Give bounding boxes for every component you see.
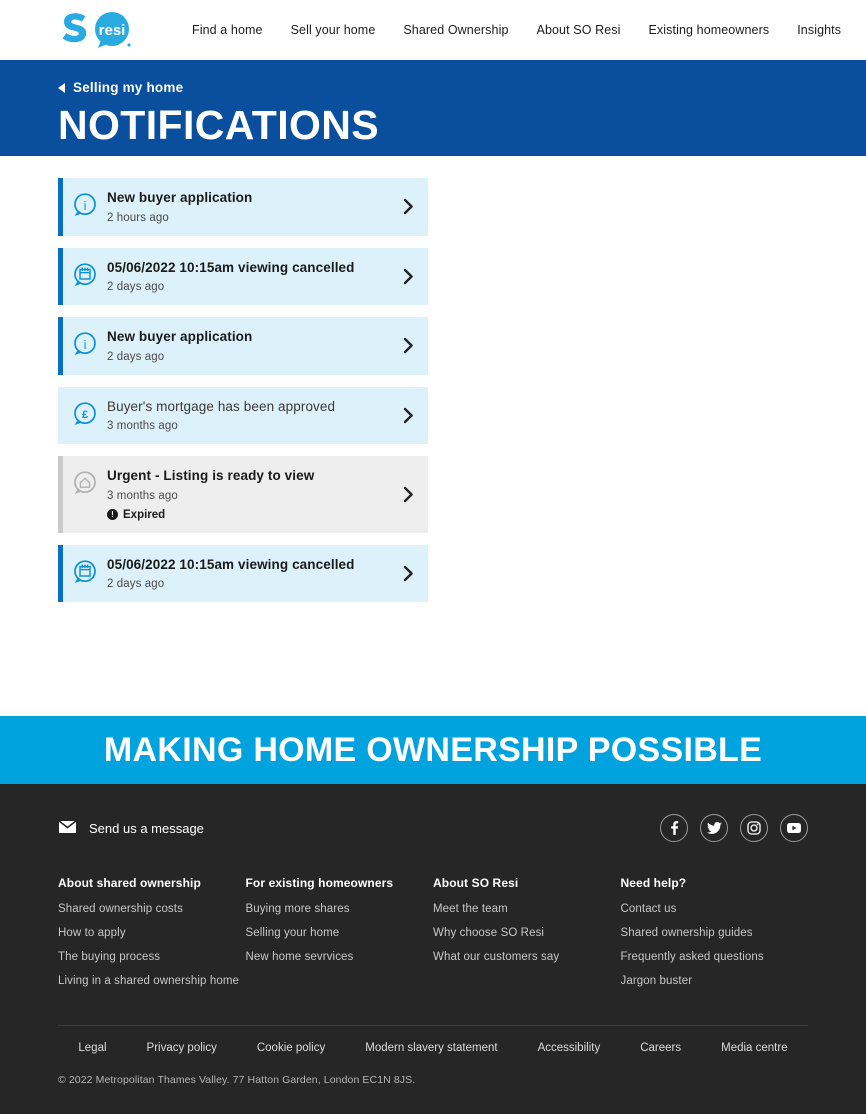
pound-bubble-icon: £: [63, 387, 107, 445]
notification-body: 05/06/2022 10:15am viewing cancelled2 da…: [107, 545, 388, 603]
social-links: [660, 814, 808, 842]
nav-item-shared-ownership[interactable]: Shared Ownership: [389, 23, 522, 37]
send-message-label: Send us a message: [89, 821, 204, 836]
notification-body: New buyer application2 days ago: [107, 317, 388, 375]
notification-title: New buyer application: [107, 189, 384, 207]
footer-link[interactable]: Living in a shared ownership home: [58, 975, 246, 987]
footer-link[interactable]: Selling your home: [246, 927, 434, 939]
twitter-icon[interactable]: [700, 814, 728, 842]
breadcrumb-label: Selling my home: [73, 80, 183, 95]
notification-timestamp: 2 days ago: [107, 351, 384, 363]
notification-body: 05/06/2022 10:15am viewing cancelled2 da…: [107, 248, 388, 306]
legal-links: LegalPrivacy policyCookie policyModern s…: [58, 1042, 808, 1074]
footer-legal-section: LegalPrivacy policyCookie policyModern s…: [58, 1025, 808, 1096]
footer-column: About SO ResiMeet the teamWhy choose SO …: [433, 876, 621, 999]
notification-title: 05/06/2022 10:15am viewing cancelled: [107, 556, 384, 574]
footer-top-row: Send us a message: [58, 814, 808, 876]
footer-link[interactable]: Contact us: [621, 903, 809, 915]
copyright-text: © 2022 Metropolitan Thames Valley. 77 Ha…: [58, 1074, 808, 1096]
svg-text:resi: resi: [99, 22, 126, 39]
footer-link[interactable]: Why choose SO Resi: [433, 927, 621, 939]
chevron-right-icon[interactable]: [388, 178, 428, 236]
notification-card[interactable]: 05/06/2022 10:15am viewing cancelled2 da…: [58, 248, 428, 306]
site-footer: Send us a message: [0, 784, 866, 1114]
notification-timestamp: 3 months ago: [107, 420, 384, 432]
notification-body: New buyer application2 hours ago: [107, 178, 388, 236]
page-title: NOTIFICATIONS: [58, 103, 808, 147]
info-bubble-icon: i: [63, 317, 107, 375]
legal-link[interactable]: Legal: [78, 1042, 106, 1054]
nav-item-help[interactable]: Help: [855, 23, 866, 37]
exclamation-icon: !: [107, 509, 118, 520]
footer-link[interactable]: Shared ownership costs: [58, 903, 246, 915]
notification-list: iNew buyer application2 hours ago05/06/2…: [58, 178, 428, 602]
notification-title: Buyer's mortgage has been approved: [107, 398, 384, 416]
legal-link[interactable]: Accessibility: [538, 1042, 601, 1054]
home-bubble-icon: [63, 456, 107, 533]
envelope-icon: [58, 820, 77, 837]
legal-link[interactable]: Media centre: [721, 1042, 787, 1054]
nav-item-insights[interactable]: Insights: [783, 23, 855, 37]
chevron-right-icon[interactable]: [388, 456, 428, 533]
footer-link[interactable]: New home sevrvices: [246, 951, 434, 963]
tagline-banner: MAKING HOME OWNERSHIP POSSIBLE: [0, 716, 866, 784]
footer-link[interactable]: Shared ownership guides: [621, 927, 809, 939]
main-content: iNew buyer application2 hours ago05/06/2…: [0, 156, 866, 656]
back-arrow-icon: [58, 83, 65, 93]
svg-text:£: £: [82, 409, 88, 421]
footer-link[interactable]: Meet the team: [433, 903, 621, 915]
page-hero-banner: Selling my home NOTIFICATIONS: [0, 60, 866, 156]
calendar-bubble-icon: [63, 248, 107, 306]
notification-title: Urgent - Listing is ready to view: [107, 467, 384, 485]
chevron-right-icon[interactable]: [388, 545, 428, 603]
footer-column-heading: About shared ownership: [58, 876, 246, 890]
svg-text:i: i: [83, 197, 87, 212]
footer-link[interactable]: How to apply: [58, 927, 246, 939]
so-resi-logo[interactable]: resi: [58, 9, 136, 51]
footer-link[interactable]: Jargon buster: [621, 975, 809, 987]
footer-column-heading: For existing homeowners: [246, 876, 434, 890]
notification-card[interactable]: £Buyer's mortgage has been approved3 mon…: [58, 387, 428, 445]
notification-body: Urgent - Listing is ready to view3 month…: [107, 456, 388, 533]
tagline-text: MAKING HOME OWNERSHIP POSSIBLE: [104, 731, 762, 770]
notification-timestamp: 2 days ago: [107, 578, 384, 590]
footer-column-heading: Need help?: [621, 876, 809, 890]
notification-card[interactable]: iNew buyer application2 days ago: [58, 317, 428, 375]
footer-column: Need help?Contact usShared ownership gui…: [621, 876, 809, 999]
svg-text:i: i: [83, 336, 87, 351]
footer-link[interactable]: The buying process: [58, 951, 246, 963]
calendar-bubble-icon: [63, 545, 107, 603]
footer-column-heading: About SO Resi: [433, 876, 621, 890]
info-bubble-icon: i: [63, 178, 107, 236]
instagram-icon[interactable]: [740, 814, 768, 842]
chevron-right-icon[interactable]: [388, 387, 428, 445]
breadcrumb-selling-my-home[interactable]: Selling my home: [58, 80, 183, 95]
notification-card[interactable]: Urgent - Listing is ready to view3 month…: [58, 456, 428, 533]
top-navigation-bar: resi Find a home Sell your home Shared O…: [0, 0, 866, 60]
notification-title: New buyer application: [107, 328, 384, 346]
notification-body: Buyer's mortgage has been approved3 mont…: [107, 387, 388, 445]
status-badge: !Expired: [107, 509, 384, 521]
nav-item-find-a-home[interactable]: Find a home: [178, 23, 277, 37]
footer-column: About shared ownershipShared ownership c…: [58, 876, 246, 999]
nav-item-sell-your-home[interactable]: Sell your home: [277, 23, 390, 37]
notification-card[interactable]: iNew buyer application2 hours ago: [58, 178, 428, 236]
primary-nav: Find a home Sell your home Shared Owners…: [178, 23, 866, 37]
legal-link[interactable]: Modern slavery statement: [365, 1042, 497, 1054]
footer-link[interactable]: Buying more shares: [246, 903, 434, 915]
chevron-right-icon[interactable]: [388, 248, 428, 306]
notification-card[interactable]: 05/06/2022 10:15am viewing cancelled2 da…: [58, 545, 428, 603]
legal-link[interactable]: Privacy policy: [147, 1042, 217, 1054]
nav-item-existing-homeowners[interactable]: Existing homeowners: [635, 23, 784, 37]
legal-link[interactable]: Careers: [640, 1042, 681, 1054]
notification-timestamp: 2 hours ago: [107, 212, 384, 224]
footer-link[interactable]: What our customers say: [433, 951, 621, 963]
status-badge-label: Expired: [123, 509, 165, 521]
legal-link[interactable]: Cookie policy: [257, 1042, 325, 1054]
youtube-icon[interactable]: [780, 814, 808, 842]
facebook-icon[interactable]: [660, 814, 688, 842]
footer-link[interactable]: Frequently asked questions: [621, 951, 809, 963]
footer-column: For existing homeownersBuying more share…: [246, 876, 434, 999]
notification-timestamp: 3 months ago: [107, 490, 384, 502]
chevron-right-icon[interactable]: [388, 317, 428, 375]
footer-link-columns: About shared ownershipShared ownership c…: [58, 876, 808, 1025]
notification-timestamp: 2 days ago: [107, 281, 384, 293]
send-us-a-message-link[interactable]: Send us a message: [58, 820, 204, 837]
nav-item-about-so-resi[interactable]: About SO Resi: [523, 23, 635, 37]
notification-title: 05/06/2022 10:15am viewing cancelled: [107, 259, 384, 277]
